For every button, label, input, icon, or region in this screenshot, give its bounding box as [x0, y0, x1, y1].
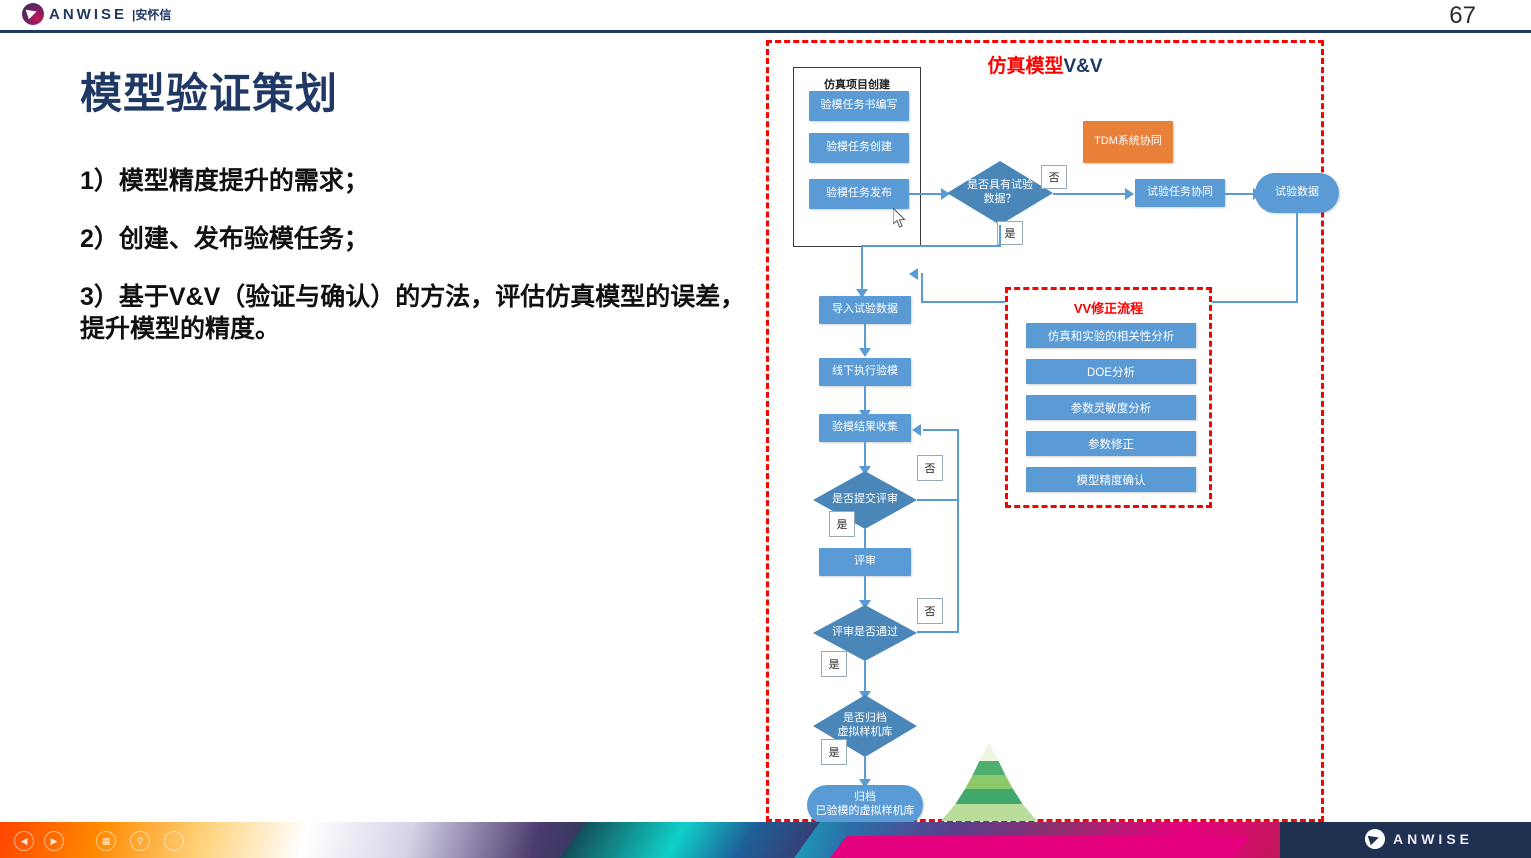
label-yes-2: 是 — [829, 511, 855, 537]
footer-logo: ANWISE — [1365, 829, 1473, 849]
arrow-head — [912, 424, 921, 436]
connector-line — [923, 429, 959, 431]
node-collect-results[interactable]: 验模结果收集 — [819, 414, 911, 442]
diagram-title-cn: 仿真模型 — [987, 56, 1063, 77]
connector-line — [909, 193, 943, 195]
anwise-logo-icon — [22, 3, 44, 25]
vv-correction-panel: VV修正流程 仿真和实验的相关性分析 DOE分析 参数灵敏度分析 参数修正 模型… — [1005, 287, 1212, 508]
node-archive-result[interactable]: 归档 已验模的虚拟样机库 — [807, 785, 923, 825]
label-no-3: 否 — [917, 598, 943, 624]
node-review[interactable]: 评审 — [819, 548, 911, 576]
list-item: 1）模型精度提升的需求； — [80, 165, 760, 197]
pyramid-layer — [941, 761, 1037, 775]
footer-decorative-band — [0, 822, 1280, 858]
app-footer: ◀ ▶ ▦ ⚲ ⋯ ANWISE — [0, 822, 1531, 858]
brand-name: ANWISE — [49, 6, 127, 23]
connector-line — [1225, 193, 1255, 195]
label-no-2: 否 — [917, 455, 943, 481]
arrow-head — [859, 348, 871, 357]
app-header: ANWISE |安怀信 67 — [0, 0, 1531, 31]
vv-item-correlation[interactable]: 仿真和实验的相关性分析 — [1026, 323, 1196, 348]
label-yes-4: 是 — [821, 739, 847, 765]
node-task-create[interactable]: 验模任务创建 — [809, 133, 909, 163]
page-number: 67 — [1449, 2, 1476, 30]
list-item: 3）基于V&V（验证与确认）的方法，评估仿真模型的误差，提升模型的精度。 — [80, 281, 760, 345]
node-test-data[interactable]: 试验数据 — [1255, 173, 1339, 213]
pyramid-layer — [941, 775, 1037, 789]
mouse-cursor-icon — [893, 208, 907, 228]
brand-name-cn: |安怀信 — [132, 6, 171, 23]
header-divider — [0, 30, 1531, 33]
more-options-button[interactable]: ⋯ — [164, 831, 184, 851]
vv-item-accuracy-confirm[interactable]: 模型精度确认 — [1026, 467, 1196, 492]
pyramid-layer — [941, 743, 1037, 761]
arrow-head — [909, 268, 918, 280]
connector-line — [1053, 193, 1127, 195]
decision-label: 是否提交评审 — [832, 493, 898, 507]
search-icon[interactable]: ⚲ — [130, 831, 150, 851]
brand-logo: ANWISE |安怀信 — [22, 3, 171, 25]
group-label: 仿真项目创建 — [794, 76, 920, 92]
prev-slide-button[interactable]: ◀ — [14, 831, 34, 851]
connector-line — [999, 225, 1001, 247]
node-tdm-collab[interactable]: TDM系统协同 — [1083, 121, 1173, 163]
page-title: 模型验证策划 — [80, 60, 338, 121]
arrow-head — [941, 188, 950, 200]
pyramid-layer — [941, 789, 1037, 804]
node-offline-validation[interactable]: 线下执行验模 — [819, 358, 911, 386]
node-import-test-data[interactable]: 导入试验数据 — [819, 296, 911, 324]
node-task-publish[interactable]: 验模任务发布 — [809, 179, 909, 209]
connector-line — [864, 661, 866, 695]
list-item: 2）创建、发布验模任务； — [80, 223, 760, 255]
menu-grid-button[interactable]: ▦ — [96, 831, 116, 851]
play-slide-button[interactable]: ▶ — [44, 831, 64, 851]
vv-item-doe[interactable]: DOE分析 — [1026, 359, 1196, 384]
vv-panel-title: VV修正流程 — [1008, 298, 1209, 317]
label-yes-3: 是 — [821, 651, 847, 677]
diagram-title-vv: V&V — [1063, 56, 1102, 77]
node-task-doc[interactable]: 验模任务书编写 — [809, 91, 909, 121]
connector-line — [1296, 213, 1298, 303]
decision-label: 是否归档 虚拟样机库 — [838, 712, 893, 740]
connector-line — [957, 429, 959, 631]
pyramid-layer — [941, 804, 1037, 821]
bullet-list: 1）模型精度提升的需求； 2）创建、发布验模任务； 3）基于V&V（验证与确认）… — [80, 165, 760, 345]
arrow-head — [1125, 188, 1134, 200]
vv-item-sensitivity[interactable]: 参数灵敏度分析 — [1026, 395, 1196, 420]
decision-label: 评审是否通过 — [832, 626, 898, 640]
connector-line — [917, 631, 959, 633]
connector-line — [921, 273, 923, 303]
connector-line — [861, 245, 1001, 247]
label-no-1: 否 — [1041, 165, 1067, 189]
vv-item-param-correction[interactable]: 参数修正 — [1026, 431, 1196, 456]
connector-line — [917, 499, 959, 501]
pyramid-graphic — [941, 743, 1037, 821]
footer-brand-name: ANWISE — [1393, 831, 1473, 847]
anwise-logo-icon — [1365, 829, 1385, 849]
decision-has-test-data[interactable]: 是否具有试验 数据？ — [947, 161, 1053, 225]
decision-label: 是否具有试验 数据？ — [967, 179, 1033, 207]
node-test-task-collab[interactable]: 试验任务协同 — [1135, 179, 1225, 207]
connector-line — [861, 245, 863, 293]
